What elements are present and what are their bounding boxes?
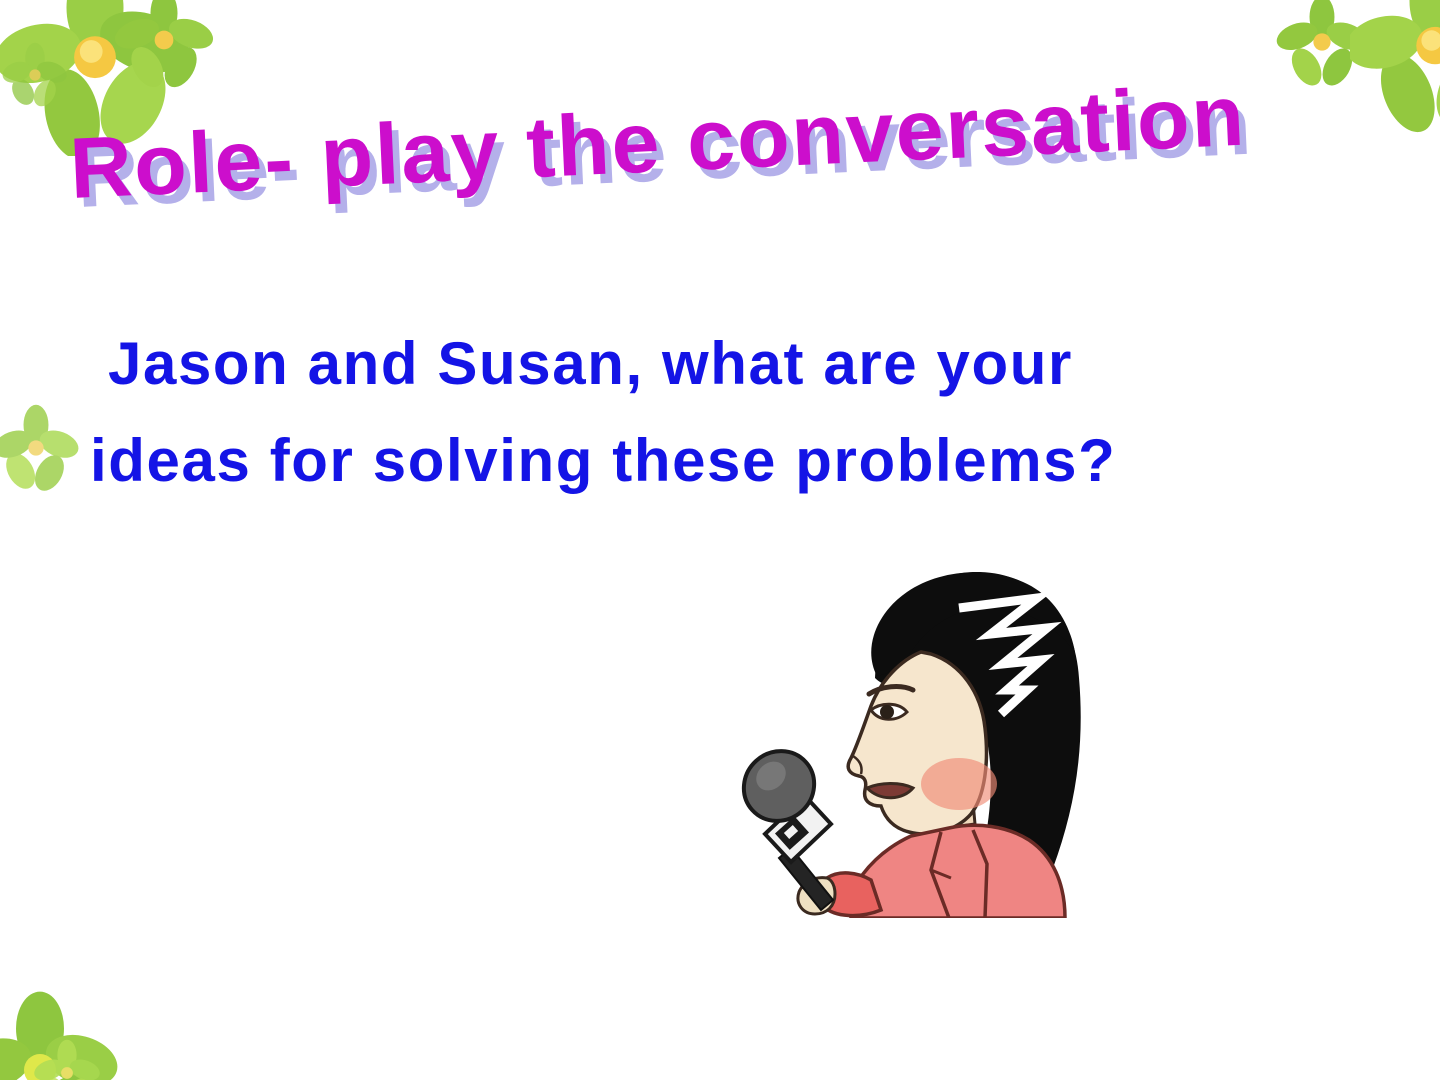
pupil [880, 705, 894, 719]
flower-top-left-tiny-icon [0, 40, 70, 110]
flower-left-middle-icon [0, 400, 84, 496]
slide-canvas: Role- play the conversation Role- play t… [0, 0, 1440, 1080]
question-text: Jason and Susan, what are your ideas for… [90, 315, 1290, 509]
flower-bottom-left-small-icon [30, 1036, 104, 1080]
question-line-1: Jason and Susan, what are your [90, 315, 1290, 412]
question-line-2: ideas for solving these problems? [90, 412, 1290, 509]
reporter-illustration [735, 548, 1105, 918]
cheek-blush [921, 758, 997, 810]
flower-top-left-small-icon [112, 0, 216, 92]
page-title: Role- play the conversation Role- play t… [70, 120, 1370, 240]
flower-bottom-left-large-icon [0, 990, 120, 1080]
